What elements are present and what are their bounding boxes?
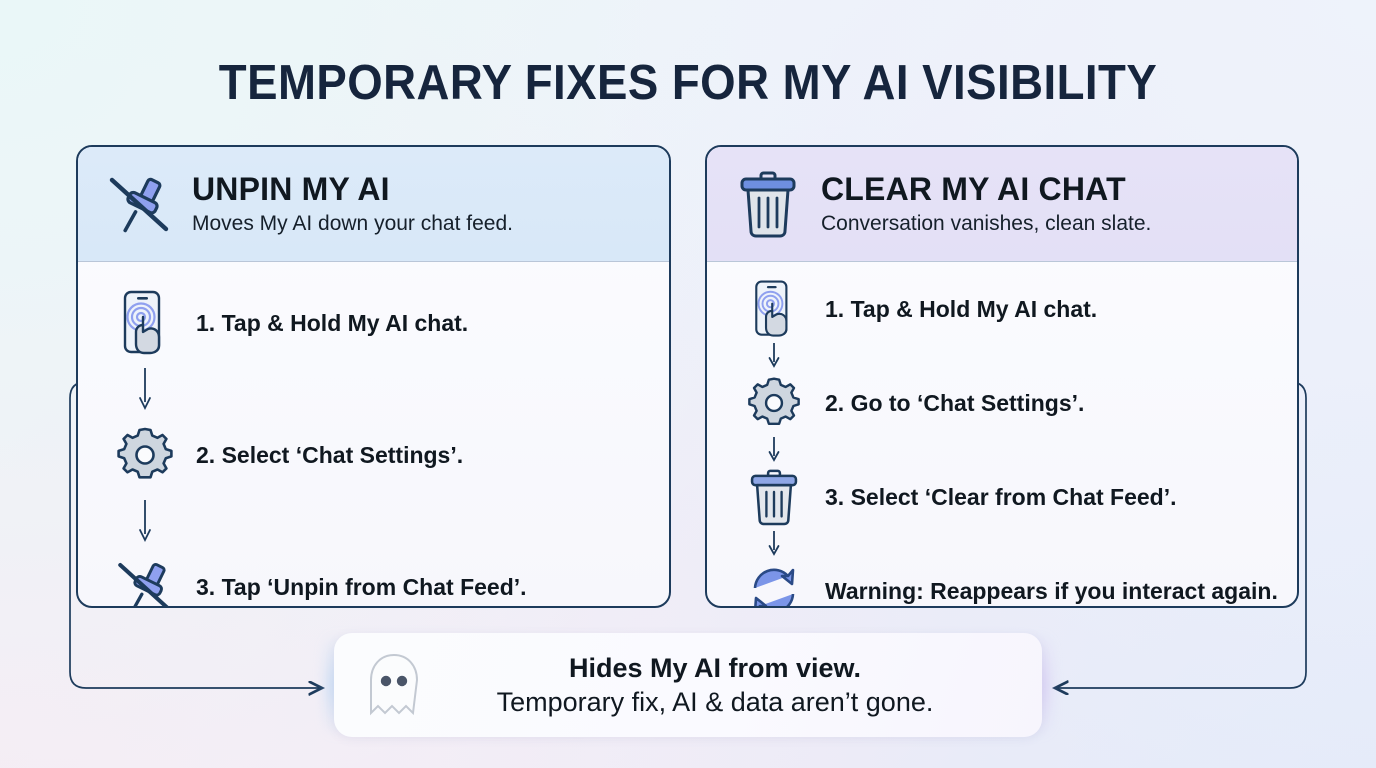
ghost-icon: [358, 649, 430, 721]
card-title: UNPIN MY AI: [192, 171, 513, 208]
step-item: 1. Tap & Hold My AI chat.: [78, 280, 669, 366]
step-text: 3. Tap ‘Unpin from Chat Feed’.: [196, 573, 527, 602]
card-subtitle: Conversation vanishes, clean slate.: [821, 210, 1151, 237]
step-arrow: [707, 436, 1297, 464]
trash-icon: [729, 165, 807, 243]
step-item: 3. Select ‘Clear from Chat Feed’.: [707, 464, 1297, 530]
step-item-warning: Warning: Reappears if you interact again…: [707, 558, 1297, 608]
step-item: 3. Tap ‘Unpin from Chat Feed’.: [78, 544, 669, 608]
callout-headline: Hides My AI from view.: [440, 652, 990, 685]
steps-list-unpin: 1. Tap & Hold My AI chat. 2. Select ‘Cha…: [78, 262, 669, 608]
card-subtitle: Moves My AI down your chat feed.: [192, 210, 513, 237]
step-arrow: [707, 530, 1297, 558]
step-text: 1. Tap & Hold My AI chat.: [825, 295, 1097, 324]
step-text: 2. Go to ‘Chat Settings’.: [825, 389, 1084, 418]
step-text: 1. Tap & Hold My AI chat.: [196, 309, 468, 338]
card-unpin-my-ai: UNPIN MY AI Moves My AI down your chat f…: [76, 145, 671, 608]
unpin-pin-icon: [104, 554, 186, 608]
steps-list-clear: 1. Tap & Hold My AI chat. 2. Go to ‘Chat…: [707, 262, 1297, 608]
gear-icon: [104, 425, 186, 485]
card-header-unpin: UNPIN MY AI Moves My AI down your chat f…: [78, 147, 669, 262]
step-text: 3. Select ‘Clear from Chat Feed’.: [825, 483, 1177, 512]
gear-icon: [733, 375, 815, 431]
unpin-pin-icon: [100, 165, 178, 243]
step-text: Warning: Reappears if you interact again…: [825, 577, 1278, 606]
step-text: 2. Select ‘Chat Settings’.: [196, 441, 463, 470]
step-item: 2. Go to ‘Chat Settings’.: [707, 370, 1297, 436]
summary-callout: Hides My AI from view. Temporary fix, AI…: [334, 633, 1042, 737]
step-arrow: [78, 366, 669, 412]
step-item: 1. Tap & Hold My AI chat.: [707, 276, 1297, 342]
refresh-icon: [733, 562, 815, 608]
step-arrow: [707, 342, 1297, 370]
step-item: 2. Select ‘Chat Settings’.: [78, 412, 669, 498]
step-arrow: [78, 498, 669, 544]
phone-tap-icon: [733, 278, 815, 340]
card-title: CLEAR MY AI CHAT: [821, 171, 1151, 208]
page-title: TEMPORARY FIXES FOR MY AI VISIBILITY: [48, 52, 1328, 114]
card-clear-my-ai-chat: CLEAR MY AI CHAT Conversation vanishes, …: [705, 145, 1299, 608]
trash-icon: [733, 467, 815, 527]
phone-tap-icon: [104, 288, 186, 358]
callout-subline: Temporary fix, AI & data aren’t gone.: [440, 685, 990, 719]
card-header-clear: CLEAR MY AI CHAT Conversation vanishes, …: [707, 147, 1297, 262]
